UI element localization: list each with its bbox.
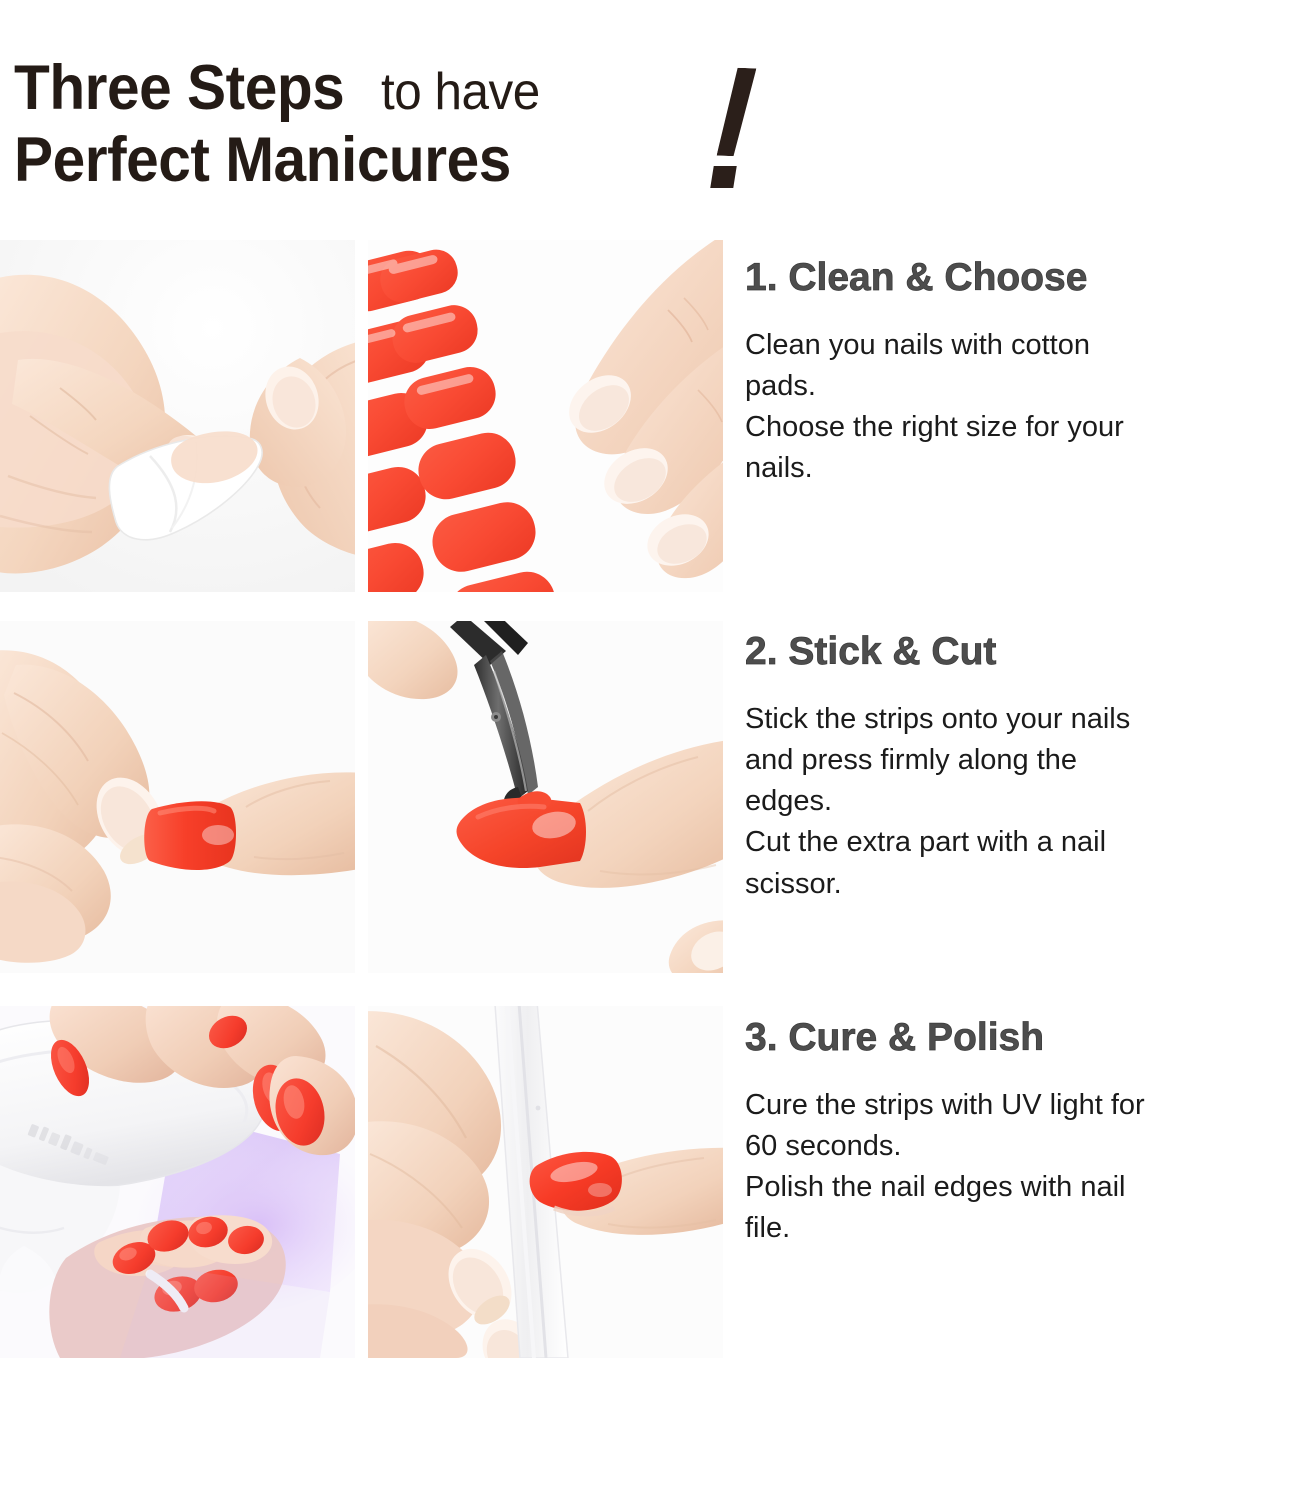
photo-cure-uv-lamp — [0, 1006, 355, 1358]
step-2-line-5: scissor. — [745, 864, 1293, 905]
step-3-line-3: Polish the nail edges with nail — [745, 1167, 1293, 1208]
step-3-line-2: 60 seconds. — [745, 1126, 1293, 1167]
step-3: 3. Cure & Polish Cure the strips with UV… — [745, 1018, 1293, 1250]
exclamation-dot — [710, 166, 736, 188]
photo-clean-nail-cotton-pad — [0, 240, 355, 592]
step-2-heading: 2. Stick & Cut — [745, 632, 1293, 673]
page-title: Three Stepsto have Perfect Manicures — [14, 58, 814, 208]
exclamation-mark-icon — [705, 68, 775, 193]
title-light: to have — [381, 67, 540, 118]
step-1-line-3: Choose the right size for your — [745, 407, 1293, 448]
step-3-heading: 3. Cure & Polish — [745, 1018, 1293, 1059]
step-2: 2. Stick & Cut Stick the strips onto you… — [745, 632, 1293, 905]
step-2-line-2: and press firmly along the — [745, 740, 1293, 781]
step-1-line-1: Clean you nails with cotton — [745, 325, 1293, 366]
step-2-line-3: edges. — [745, 781, 1293, 822]
photo-cut-with-nail-scissor — [368, 621, 723, 973]
step-1-body: Clean you nails with cotton pads. Choose… — [745, 325, 1293, 490]
photo-polish-with-nail-file — [368, 1006, 723, 1358]
step-3-line-1: Cure the strips with UV light for — [745, 1085, 1293, 1126]
step-1-line-4: nails. — [745, 448, 1293, 489]
step-1: 1. Clean & Choose Clean you nails with c… — [745, 258, 1293, 490]
photo-grid — [0, 240, 730, 1358]
photo-stick-strip-on-nail — [0, 621, 355, 973]
step-1-heading: 1. Clean & Choose — [745, 258, 1293, 299]
title-strong-2: Perfect Manicures — [14, 130, 511, 192]
step-2-line-4: Cut the extra part with a nail — [745, 822, 1293, 863]
step-3-body: Cure the strips with UV light for 60 sec… — [745, 1085, 1293, 1250]
step-3-line-4: file. — [745, 1208, 1293, 1249]
title-line-2: Perfect Manicures — [14, 130, 814, 192]
step-1-line-2: pads. — [745, 366, 1293, 407]
step-2-line-1: Stick the strips onto your nails — [745, 699, 1293, 740]
photo-red-nail-strip-sheet — [368, 240, 723, 592]
title-line-1: Three Stepsto have — [14, 58, 814, 120]
step-2-body: Stick the strips onto your nails and pre… — [745, 699, 1293, 905]
title-strong-1: Three Steps — [14, 58, 344, 120]
exclamation-stem — [717, 68, 757, 157]
infographic-page: Three Stepsto have Perfect Manicures — [0, 0, 1300, 1500]
